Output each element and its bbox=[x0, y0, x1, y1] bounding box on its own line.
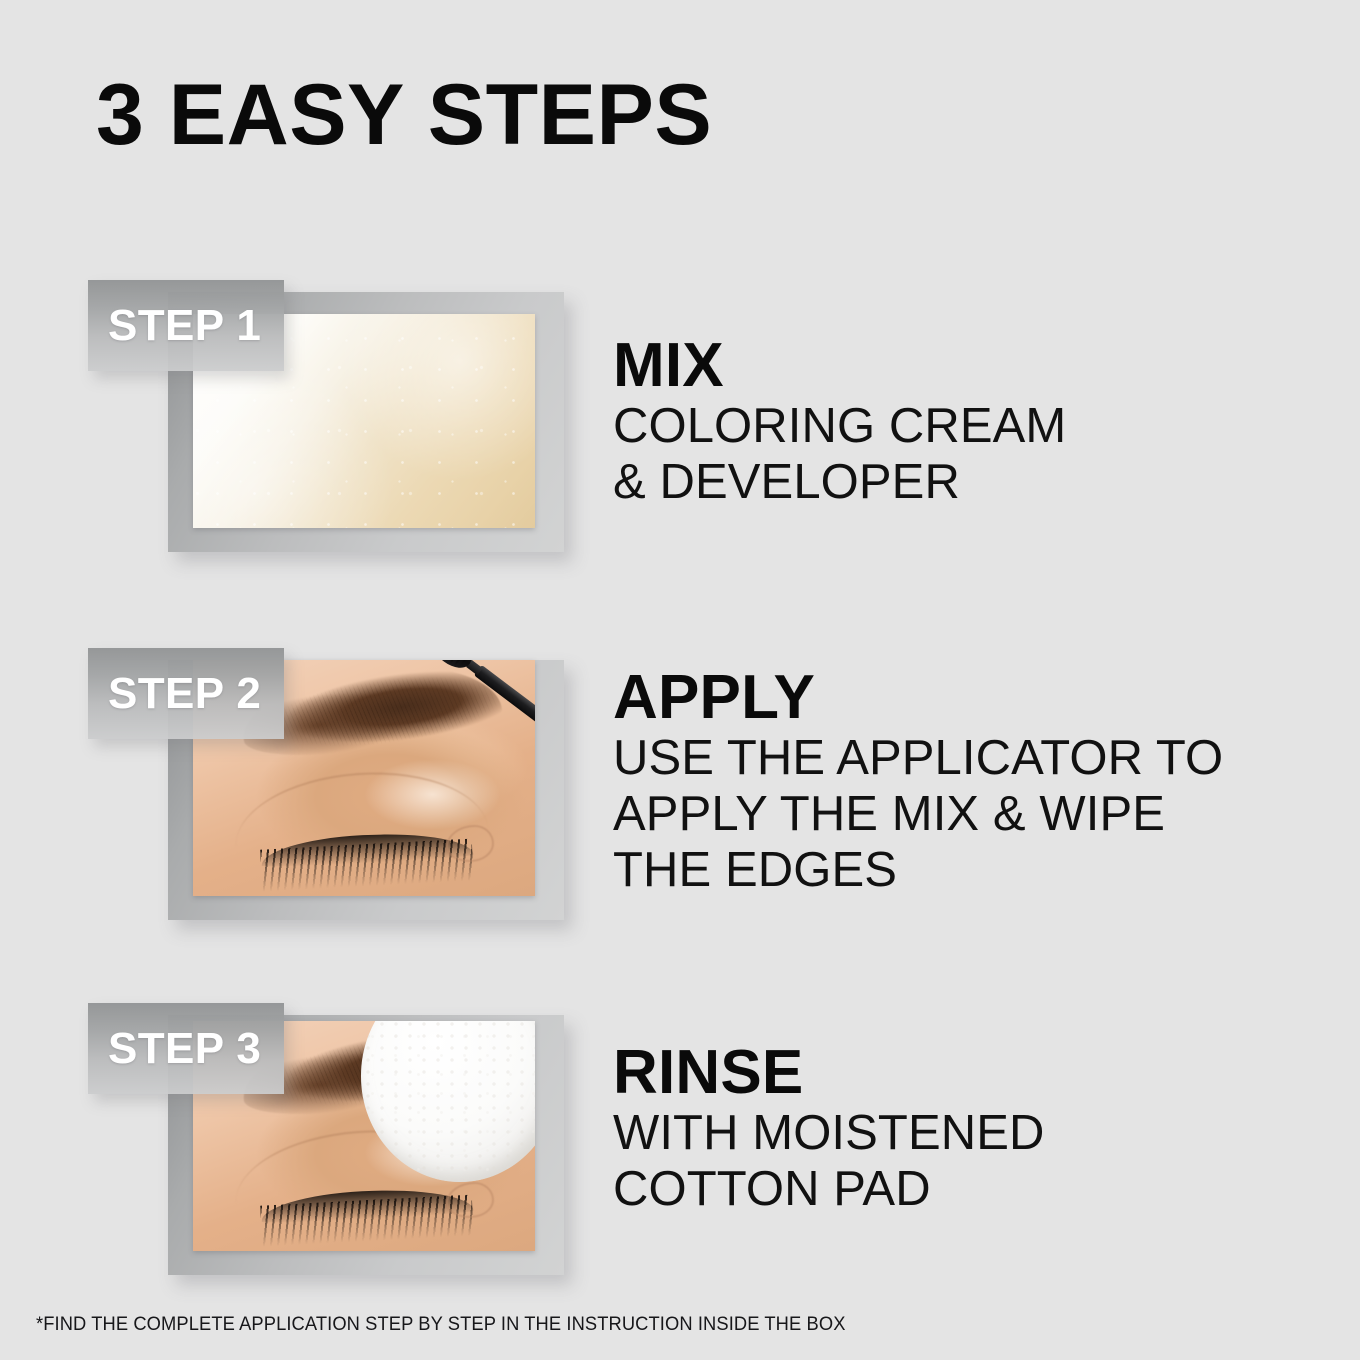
step-1-badge: STEP 1 bbox=[88, 280, 284, 371]
step-3-heading: RINSE bbox=[613, 1041, 1313, 1104]
step-1-desc-line-2: & DEVELOPER bbox=[613, 455, 1313, 511]
footnote-disclaimer: *FIND THE COMPLETE APPLICATION STEP BY S… bbox=[36, 1313, 846, 1336]
step-1-heading: MIX bbox=[613, 334, 1313, 397]
step-3-desc-line-2: COTTON PAD bbox=[613, 1162, 1313, 1218]
step-2-desc-line-2: APPLY THE MIX & WIPE bbox=[613, 787, 1313, 843]
step-3-desc-line-1: WITH MOISTENED bbox=[613, 1106, 1313, 1162]
step-1-badge-label: STEP 1 bbox=[108, 304, 261, 348]
step-3-text: RINSE WITH MOISTENED COTTON PAD bbox=[613, 1041, 1313, 1218]
step-2-text: APPLY USE THE APPLICATOR TO APPLY THE MI… bbox=[613, 666, 1313, 899]
step-3-badge-label: STEP 3 bbox=[108, 1027, 261, 1071]
step-3-description: WITH MOISTENED COTTON PAD bbox=[613, 1106, 1313, 1218]
step-1-desc-line-1: COLORING CREAM bbox=[613, 399, 1313, 455]
step-2-media: STEP 2 bbox=[0, 648, 600, 948]
step-2-desc-line-3: THE EDGES bbox=[613, 843, 1313, 899]
step-2-description: USE THE APPLICATOR TO APPLY THE MIX & WI… bbox=[613, 731, 1313, 899]
step-2-heading: APPLY bbox=[613, 666, 1313, 729]
step-3-media: STEP 3 bbox=[0, 1003, 600, 1303]
step-2-desc-line-1: USE THE APPLICATOR TO bbox=[613, 731, 1313, 787]
step-1-media: STEP 1 bbox=[0, 280, 600, 580]
step-1-text: MIX COLORING CREAM & DEVELOPER bbox=[613, 334, 1313, 511]
step-1-description: COLORING CREAM & DEVELOPER bbox=[613, 399, 1313, 511]
step-2-badge-label: STEP 2 bbox=[108, 672, 261, 716]
page-title: 3 EASY STEPS bbox=[96, 72, 712, 158]
step-3-badge: STEP 3 bbox=[88, 1003, 284, 1094]
step-2-badge: STEP 2 bbox=[88, 648, 284, 739]
